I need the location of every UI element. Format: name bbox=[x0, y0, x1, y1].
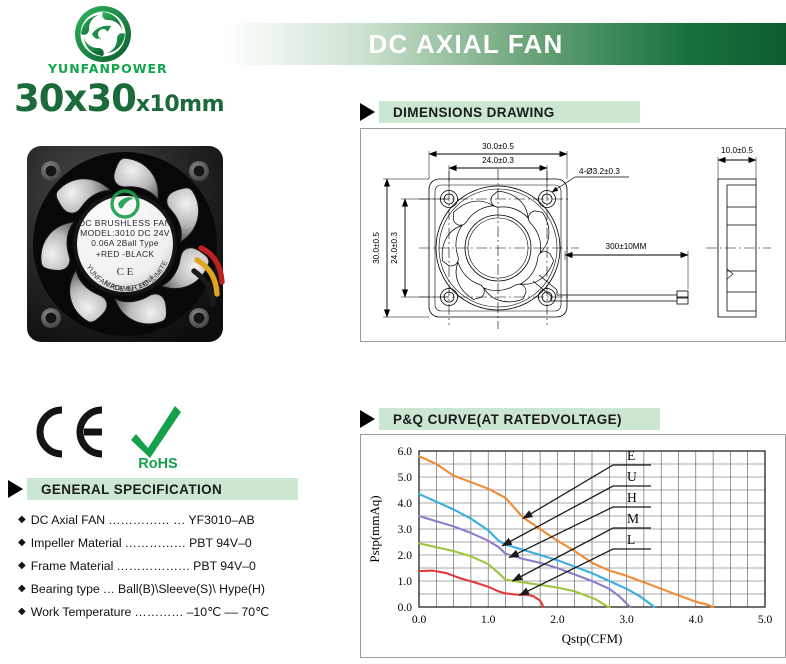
diamond-bullet-icon: ◆ bbox=[18, 537, 26, 548]
dim-hole-pitch-side: 24.0±0.3 bbox=[390, 232, 399, 264]
y-tick-label: 2.0 bbox=[398, 550, 413, 562]
y-tick-label: 6.0 bbox=[398, 446, 413, 458]
spec-label: Impeller Material bbox=[31, 536, 122, 550]
product-photo: DC BRUSHLESS FAN MODEL:3010 DC 24V 0.06A… bbox=[18, 142, 250, 364]
spec-value: PBT 94V–0 bbox=[189, 536, 252, 550]
section-header-general-specification: GENERAL SPECIFICATION bbox=[8, 478, 298, 500]
y-tick-label: 4.0 bbox=[398, 498, 413, 510]
x-tick-label: 2.0 bbox=[550, 614, 565, 626]
spec-value: Ball(B)\Sleeve(S)\ Hype(H) bbox=[118, 582, 265, 596]
callout-label: E bbox=[627, 448, 635, 463]
svg-text:0.06A 2Ball Type: 0.06A 2Ball Type bbox=[91, 238, 159, 248]
dim-hole-pitch-top: 24.0±0.3 bbox=[482, 156, 514, 165]
spec-item: ◆ Work Temperature ………… –10℃ –– 70℃ bbox=[18, 600, 348, 623]
datasheet-page: YUNFANPOWER DC AXIAL FAN 30x30x10mm bbox=[0, 0, 786, 664]
x-axis-label: Qstp(CFM) bbox=[562, 631, 623, 646]
spec-label: Work Temperature bbox=[31, 605, 132, 619]
section-title-dimensions-drawing: DIMENSIONS DRAWING bbox=[393, 101, 555, 123]
spec-value: –10℃ –– 70℃ bbox=[187, 605, 269, 619]
x-tick-label: 0.0 bbox=[412, 614, 427, 626]
dim-height-outer: 30.0±0.5 bbox=[372, 232, 381, 264]
y-tick-label: 3.0 bbox=[398, 524, 413, 536]
page-title: DC AXIAL FAN bbox=[176, 23, 756, 65]
triangle-bullet-icon bbox=[8, 480, 23, 498]
dim-wire-length: 300±10MM bbox=[606, 242, 647, 251]
spec-item: ◆ Bearing type … Ball(B)\Sleeve(S)\ Hype… bbox=[18, 577, 348, 600]
fan-swirl-logo-icon bbox=[70, 4, 136, 64]
spec-label: Frame Material bbox=[31, 559, 114, 573]
y-axis-label: Pstp(mmAq) bbox=[367, 495, 382, 562]
spec-label: DC Axial FAN bbox=[31, 513, 105, 527]
rohs-mark-icon: RoHS bbox=[131, 406, 181, 472]
callout-label: M bbox=[627, 511, 639, 526]
dim-thickness: 10.0±0.5 bbox=[721, 146, 753, 155]
section-header-pq-curve: P&Q CURVE(AT RATEDVOLTAGE) bbox=[360, 408, 660, 430]
svg-text:C E: C E bbox=[117, 266, 134, 278]
spec-label: Bearing type bbox=[31, 582, 100, 596]
callout-label: U bbox=[627, 469, 637, 484]
diamond-bullet-icon: ◆ bbox=[18, 560, 26, 571]
spec-dots: ……………… bbox=[116, 559, 190, 573]
company-logo-text: YUNFANPOWER bbox=[48, 61, 160, 76]
y-tick-label: 5.0 bbox=[398, 472, 413, 484]
svg-text:RoHS: RoHS bbox=[138, 456, 178, 472]
dimensions-drawing: 30.0±0.5 24.0±0.3 30.0±0.5 24.0±0.3 4-Ø3… bbox=[361, 129, 783, 339]
spec-item: ◆ DC Axial FAN …………… … YF3010–AB bbox=[18, 508, 348, 531]
section-title-pq-curve: P&Q CURVE(AT RATEDVOLTAGE) bbox=[393, 408, 622, 430]
spec-dots: …………… … bbox=[108, 513, 185, 527]
svg-text:+RED -BLACK: +RED -BLACK bbox=[96, 249, 155, 259]
curve-E bbox=[419, 456, 713, 607]
section-title-general-specification: GENERAL SPECIFICATION bbox=[41, 478, 222, 500]
svg-text:DC BRUSHLESS FAN: DC BRUSHLESS FAN bbox=[79, 218, 171, 228]
svg-text:MODEL:3010 DC 24V: MODEL:3010 DC 24V bbox=[80, 228, 170, 238]
product-size-sub: x10mm bbox=[136, 92, 224, 117]
product-size-heading: 30x30x10mm bbox=[14, 80, 224, 117]
x-tick-label: 5.0 bbox=[758, 614, 773, 626]
curve-M bbox=[419, 543, 609, 607]
pq-curve-chart: 0.01.02.03.04.05.00.01.02.03.04.05.06.0Q… bbox=[361, 435, 783, 655]
callout-L: L bbox=[519, 532, 651, 595]
curve-L bbox=[419, 571, 544, 607]
spec-value: YF3010–AB bbox=[188, 513, 254, 527]
x-tick-label: 3.0 bbox=[619, 614, 634, 626]
company-logo: YUNFANPOWER bbox=[48, 4, 160, 80]
x-tick-label: 1.0 bbox=[481, 614, 496, 626]
dim-width-outer: 30.0±0.5 bbox=[482, 142, 514, 151]
spec-item: ◆ Frame Material ……………… PBT 94V–0 bbox=[18, 554, 348, 577]
diamond-bullet-icon: ◆ bbox=[18, 583, 26, 594]
diamond-bullet-icon: ◆ bbox=[18, 514, 26, 525]
spec-dots: …………… bbox=[125, 536, 186, 550]
spec-value: PBT 94V–0 bbox=[193, 559, 256, 573]
triangle-bullet-icon bbox=[360, 103, 375, 121]
callout-label: L bbox=[627, 532, 635, 547]
dimensions-drawing-panel: 30.0±0.5 24.0±0.3 30.0±0.5 24.0±0.3 4-Ø3… bbox=[360, 128, 786, 342]
certification-marks: RoHS bbox=[26, 396, 206, 472]
spec-dots: … bbox=[103, 582, 115, 596]
ce-mark-icon bbox=[40, 410, 102, 454]
y-tick-label: 0.0 bbox=[398, 602, 413, 614]
x-tick-label: 4.0 bbox=[689, 614, 704, 626]
general-specification-list: ◆ DC Axial FAN …………… … YF3010–AB ◆ Impel… bbox=[18, 508, 348, 623]
pq-curve-panel: 0.01.02.03.04.05.00.01.02.03.04.05.06.0Q… bbox=[360, 434, 786, 658]
spec-dots: ………… bbox=[134, 605, 183, 619]
triangle-bullet-icon bbox=[360, 410, 375, 428]
y-tick-label: 1.0 bbox=[398, 576, 413, 588]
callout-label: H bbox=[627, 490, 637, 505]
diamond-bullet-icon: ◆ bbox=[18, 606, 26, 617]
section-header-dimensions-drawing: DIMENSIONS DRAWING bbox=[360, 101, 640, 123]
product-size-main: 30x30 bbox=[14, 77, 136, 120]
spec-item: ◆ Impeller Material …………… PBT 94V–0 bbox=[18, 531, 348, 554]
dim-holes: 4-Ø3.2±0.3 bbox=[579, 167, 620, 176]
header-banner: DC AXIAL FAN bbox=[176, 23, 786, 65]
